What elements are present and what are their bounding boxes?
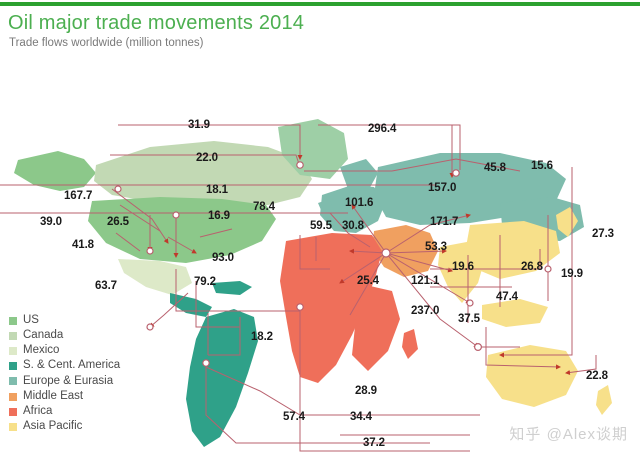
legend-swatch xyxy=(9,408,17,416)
legend: US Canada Mexico S. & Cent. America Euro… xyxy=(9,313,120,435)
flow-value-label: 47.4 xyxy=(496,291,518,303)
legend-item-mexico: Mexico xyxy=(9,343,120,358)
flow-value-label: 27.3 xyxy=(592,228,614,240)
flow-value-label: 45.8 xyxy=(484,162,506,174)
legend-swatch xyxy=(9,317,17,325)
legend-swatch xyxy=(9,393,17,401)
flow-value-label: 121.1 xyxy=(411,275,439,287)
world-map-chart: US Canada Mexico S. & Cent. America Euro… xyxy=(0,55,640,452)
region-us xyxy=(88,197,276,263)
legend-label: Canada xyxy=(23,330,63,342)
flow-value-label: 171.7 xyxy=(430,216,458,228)
region-indonesia xyxy=(482,299,548,327)
legend-item-us: US xyxy=(9,313,120,328)
legend-label: Middle East xyxy=(23,391,83,403)
legend-label: S. & Cent. America xyxy=(23,360,120,372)
legend-label: Mexico xyxy=(23,345,59,357)
flow-value-label: 37.5 xyxy=(458,313,480,325)
region-canada xyxy=(94,141,312,207)
flow-value-label: 15.6 xyxy=(531,160,553,172)
flow-value-label: 31.9 xyxy=(188,119,210,131)
legend-label: Asia Pacific xyxy=(23,421,82,433)
legend-swatch xyxy=(9,347,17,355)
flow-value-label: 37.2 xyxy=(363,437,385,449)
flow-value-label: 19.9 xyxy=(561,268,583,280)
flow-value-label: 296.4 xyxy=(368,123,396,135)
flow-value-label: 57.4 xyxy=(283,411,305,423)
top-accent-bar xyxy=(0,2,640,6)
flow-value-label: 18.1 xyxy=(206,184,228,196)
flow-value-label: 18.2 xyxy=(251,331,273,343)
flow-value-label: 22.8 xyxy=(586,370,608,382)
flow-value-label: 25.4 xyxy=(357,275,379,287)
flow-value-label: 53.3 xyxy=(425,241,447,253)
flow-value-label: 30.8 xyxy=(342,220,364,232)
flow-value-label: 237.0 xyxy=(411,305,439,317)
flow-value-label: 59.5 xyxy=(310,220,332,232)
legend-label: Europe & Eurasia xyxy=(23,376,113,388)
legend-item-europe-eurasia: Europe & Eurasia xyxy=(9,374,120,389)
flow-value-label: 93.0 xyxy=(212,252,234,264)
flow-value-label: 101.6 xyxy=(345,197,373,209)
region-caribbean xyxy=(212,281,252,295)
region-australia xyxy=(486,345,578,407)
region-mexico xyxy=(118,259,192,295)
flow-value-label: 19.6 xyxy=(452,261,474,273)
legend-swatch xyxy=(9,362,17,370)
flow-value-label: 78.4 xyxy=(253,201,275,213)
page-title: Oil major trade movements 2014 xyxy=(8,12,304,35)
watermark: 知乎 @Alex谈期 xyxy=(509,423,628,444)
flow-value-label: 26.5 xyxy=(107,216,129,228)
legend-item-middle-east: Middle East xyxy=(9,389,120,404)
flow-value-label: 63.7 xyxy=(95,280,117,292)
legend-swatch xyxy=(9,332,17,340)
flow-value-label: 22.0 xyxy=(196,152,218,164)
legend-item-canada: Canada xyxy=(9,328,120,343)
infographic-page: Oil major trade movements 2014 Trade flo… xyxy=(0,0,640,452)
flow-value-label: 41.8 xyxy=(72,239,94,251)
flow-value-label: 34.4 xyxy=(350,411,372,423)
legend-label: US xyxy=(23,315,39,327)
legend-swatch xyxy=(9,377,17,385)
flow-value-label: 79.2 xyxy=(194,276,216,288)
flow-value-label: 157.0 xyxy=(428,182,456,194)
flow-value-label: 28.9 xyxy=(355,385,377,397)
page-subtitle: Trade flows worldwide (million tonnes) xyxy=(9,37,204,49)
legend-item-s-cent-america: S. & Cent. America xyxy=(9,359,120,374)
flow-value-label: 167.7 xyxy=(64,190,92,202)
region-madagascar xyxy=(402,329,418,359)
flow-value-label: 26.8 xyxy=(521,261,543,273)
legend-label: Africa xyxy=(23,406,52,418)
legend-item-asia-pacific: Asia Pacific xyxy=(9,419,120,434)
legend-swatch xyxy=(9,423,17,431)
flow-value-label: 16.9 xyxy=(208,210,230,222)
flow-value-label: 39.0 xyxy=(40,216,62,228)
region-scandinavia xyxy=(340,159,378,191)
region-new-zealand xyxy=(596,385,612,415)
region-south-america xyxy=(186,309,258,447)
legend-item-africa: Africa xyxy=(9,404,120,419)
